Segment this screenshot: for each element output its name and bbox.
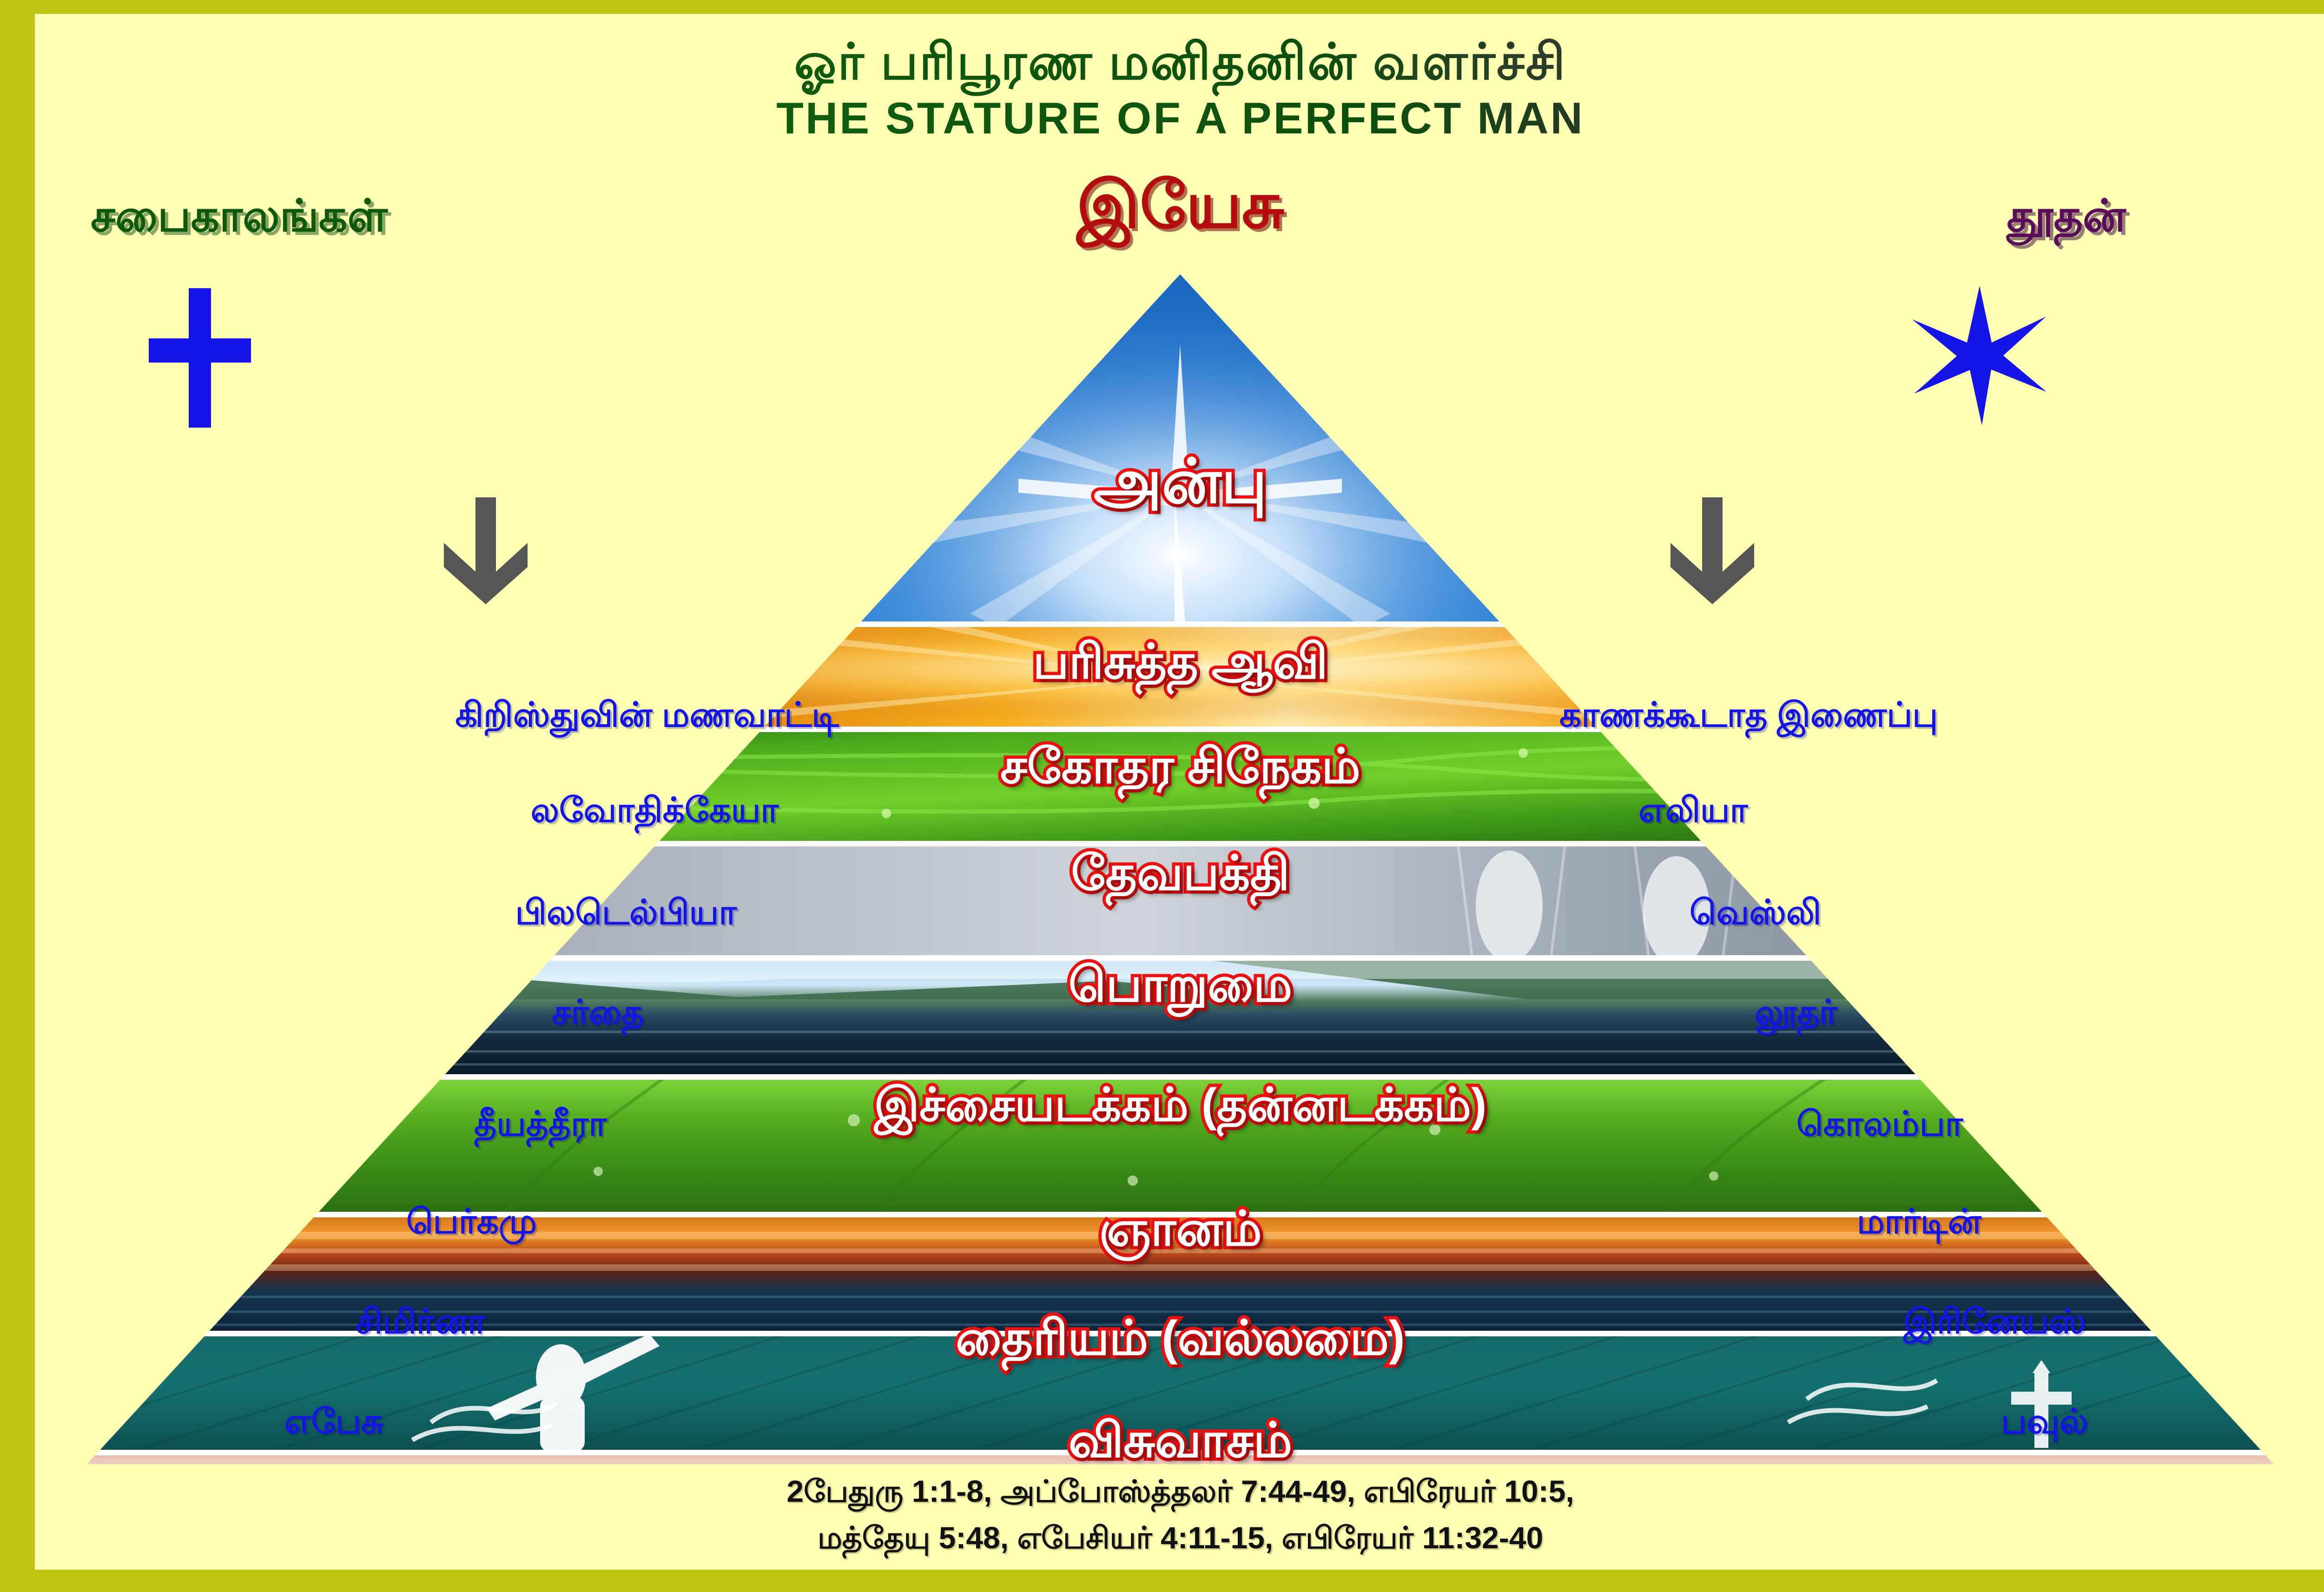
left-label-thyatira: தீயத்தீரா (128, 1104, 607, 1149)
right-label-irenaeus: இரினேயஸ் (1903, 1301, 2086, 1346)
right-label-elijah: எலியா (1638, 790, 1748, 835)
poster-frame: ஓர் பரிபூரண மனிதனின் வளர்ச்சி THE STATUR… (0, 0, 2324, 1592)
left-label-laodicea: லவோதிக்கேயா (128, 790, 779, 835)
left-label-pergamos: பெர்கமு (128, 1202, 537, 1246)
poster-canvas: ஓர் பரிபூரண மனிதனின் வளர்ச்சி THE STATUR… (35, 14, 2324, 1570)
left-label-philadelphia: பிலடெல்பியா (128, 892, 737, 937)
right-label-paul: பவுல் (2001, 1401, 2088, 1446)
right-label-wesley: வெஸ்லி (1690, 892, 1821, 937)
right-label-luther: லூதர் (1755, 992, 1837, 1037)
right-label-columba: கொலம்பா (1796, 1104, 1963, 1149)
jesus-title: இயேசு (35, 167, 2324, 251)
left-label-sardis: சர்தை (128, 992, 644, 1037)
right-label-martin: மார்டின் (1857, 1202, 1981, 1246)
scripture-references-line-1: 2பேதுரு 1:1-8, அப்போஸ்த்தலர் 7:44-49, எப… (35, 1473, 2324, 1513)
right-label-invisible-union: காணக்கூடாத இணைப்பு (1559, 695, 1938, 740)
left-label-bride-of-christ: கிறிஸ்துவின் மணவாட்டி (128, 695, 839, 740)
page-title-english: THE STATURE OF A PERFECT MAN (35, 93, 2324, 144)
pyramid-graphic (87, 274, 2274, 1464)
left-label-smyrna: சிமிர்னா (105, 1301, 486, 1346)
page-title-tamil: ஓர் பரிபூரண மனிதனின் வளர்ச்சி (35, 33, 2324, 98)
scripture-references-line-2: மத்தேயு 5:48, எபேசியர் 4:11-15, எபிரேயர்… (35, 1520, 2324, 1560)
left-label-ephesus: எபேசு (81, 1401, 383, 1446)
